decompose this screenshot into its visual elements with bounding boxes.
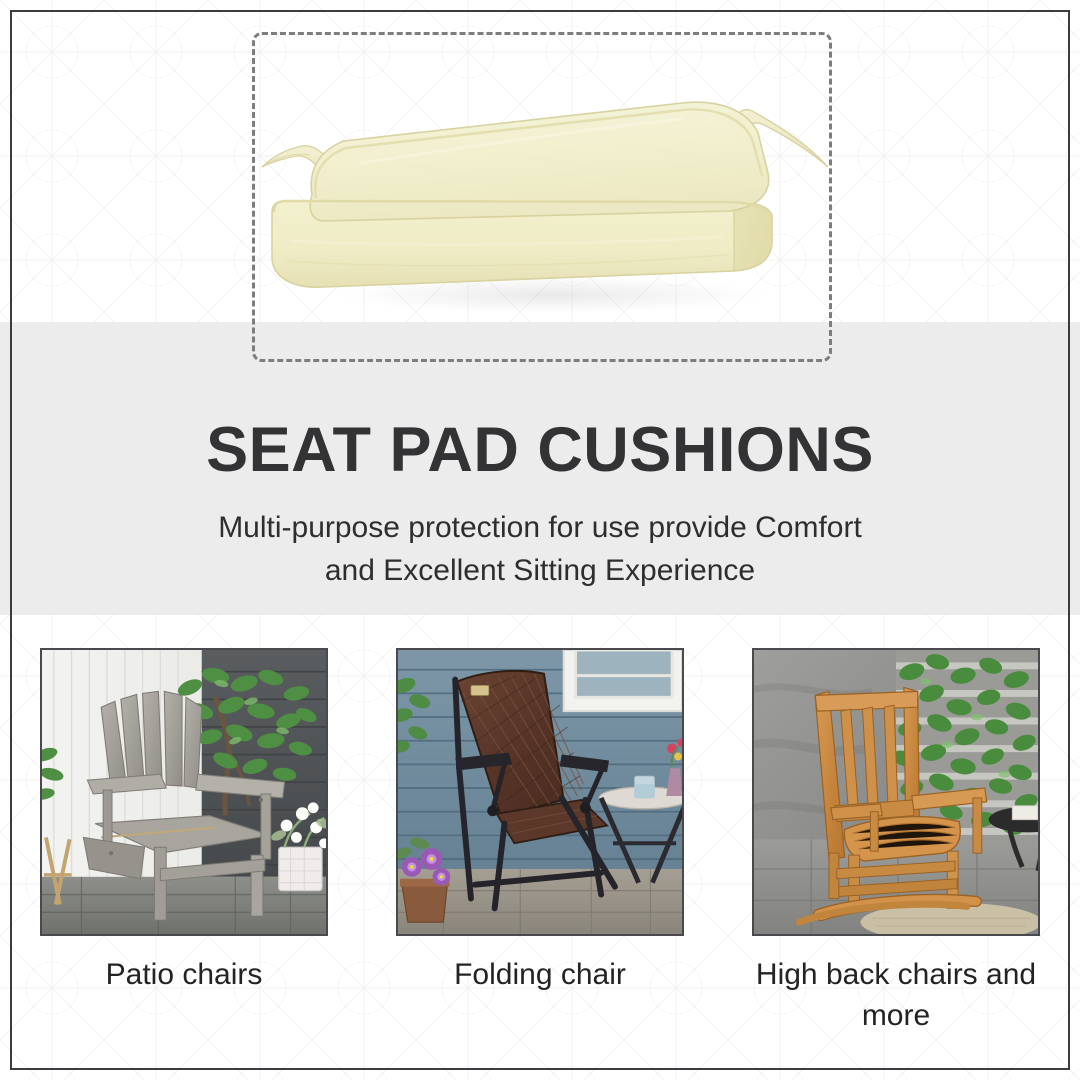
page-subtitle: Multi-purpose protection for use provide… [218,507,862,592]
folding-rattan-chair-photo [398,650,682,934]
gallery-card-high-back-chairs[interactable] [752,648,1040,936]
caption-folding-chair: Folding chair [396,955,684,1036]
caption-patio-chairs: Patio chairs [40,955,328,1036]
headline-band: SEAT PAD CUSHIONS Multi-purpose protecti… [0,322,1080,615]
caption-high-back-chairs: High back chairs and more [752,955,1040,1036]
high-back-rocking-chair-photo [754,650,1038,934]
gallery-card-patio-chairs[interactable] [40,648,328,936]
window [564,650,682,711]
subtitle-line-1: Multi-purpose protection for use provide… [218,507,862,550]
patio-adirondack-chair-photo [42,650,326,934]
product-image-seat-pad-cushion [252,55,832,320]
product-infographic-canvas: SEAT PAD CUSHIONS Multi-purpose protecti… [0,0,1080,1080]
subtitle-line-2: and Excellent Sitting Experience [218,550,862,593]
gallery-captions: Patio chairs Folding chair High back cha… [0,955,1080,1036]
gallery-card-folding-chair[interactable] [396,648,684,936]
page-title: SEAT PAD CUSHIONS [206,417,874,483]
use-case-gallery [0,648,1080,948]
